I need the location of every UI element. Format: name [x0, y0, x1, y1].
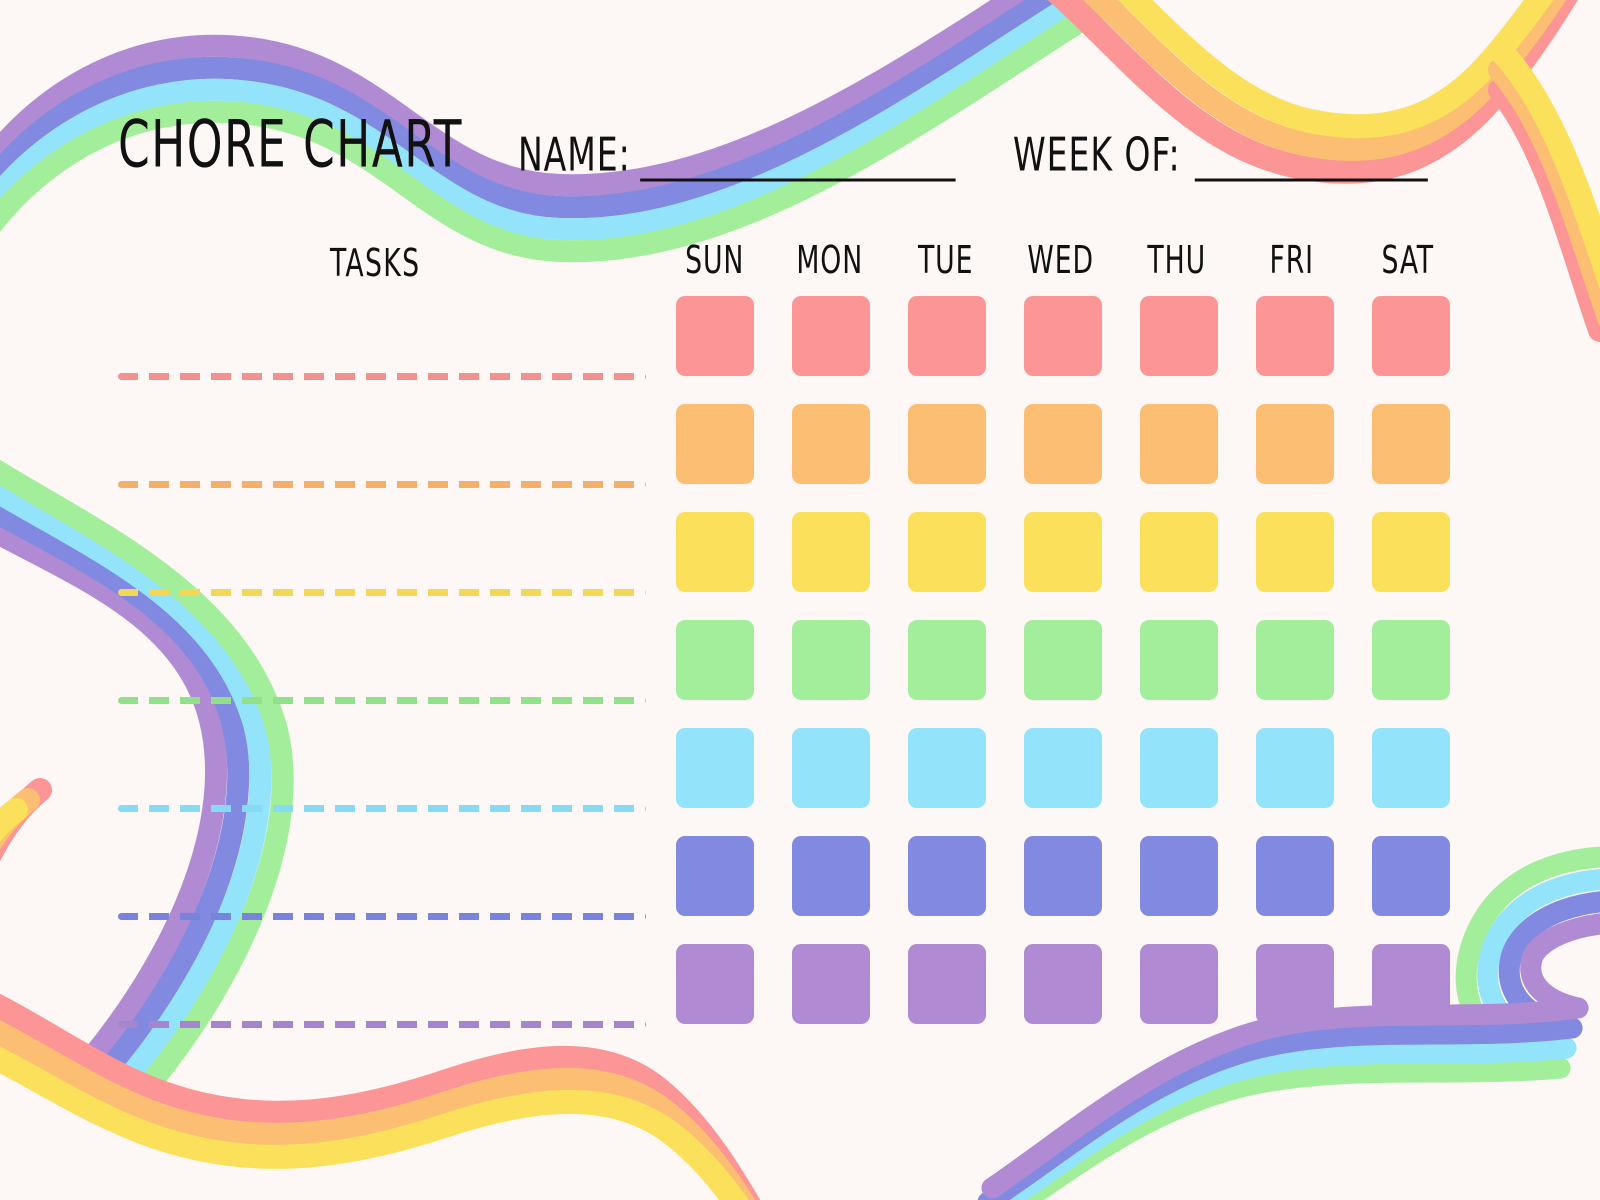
grid-row	[676, 836, 1450, 916]
chore-checkbox-cell[interactable]	[676, 728, 754, 808]
task-row	[118, 728, 646, 808]
task-write-in-line[interactable]	[118, 373, 646, 380]
chore-checkbox-cell[interactable]	[792, 296, 870, 376]
grid-row	[676, 296, 1450, 376]
chore-checkbox-cell[interactable]	[792, 728, 870, 808]
column-header-tasks: TASKS	[330, 240, 420, 285]
grid-row	[676, 728, 1450, 808]
chore-checkbox-cell[interactable]	[1256, 296, 1334, 376]
day-column-header: SAT	[1372, 237, 1442, 282]
name-field[interactable]: NAME: ___________________	[518, 136, 954, 182]
chore-chart-page: CHORE CHART NAME: ___________________ WE…	[0, 0, 1600, 1200]
task-write-in-line[interactable]	[118, 913, 646, 920]
day-column-header: THU	[1142, 237, 1212, 282]
chore-checkbox-cell[interactable]	[1140, 836, 1218, 916]
task-write-in-line[interactable]	[118, 697, 646, 704]
chore-checkbox-cell[interactable]	[1024, 296, 1102, 376]
chore-checkbox-cell[interactable]	[908, 404, 986, 484]
chore-checkbox-cell[interactable]	[908, 944, 986, 1024]
grid-row	[676, 620, 1450, 700]
chore-checkbox-cell[interactable]	[1256, 512, 1334, 592]
chore-checkbox-cell[interactable]	[1140, 296, 1218, 376]
day-column-header: SUN	[680, 237, 750, 282]
grid-row	[676, 404, 1450, 484]
chore-checkbox-cell[interactable]	[1024, 728, 1102, 808]
chore-checkbox-cell[interactable]	[908, 296, 986, 376]
day-column-header: WED	[1026, 237, 1096, 282]
chore-checkbox-cell[interactable]	[1372, 728, 1450, 808]
week-of-input-rule[interactable]: ______________	[1195, 131, 1426, 182]
chore-checkbox-cell[interactable]	[676, 404, 754, 484]
chore-checkbox-cell[interactable]	[1372, 512, 1450, 592]
task-write-in-lines	[118, 296, 646, 1024]
chore-checkbox-cell[interactable]	[1372, 944, 1450, 1024]
task-write-in-line[interactable]	[118, 589, 646, 596]
chore-checkbox-cell[interactable]	[1024, 620, 1102, 700]
chore-checkbox-cell[interactable]	[676, 620, 754, 700]
page-title: CHORE CHART	[118, 106, 463, 182]
chore-checkbox-grid	[676, 296, 1450, 1024]
task-row	[118, 620, 646, 700]
chore-checkbox-cell[interactable]	[1024, 944, 1102, 1024]
chore-checkbox-cell[interactable]	[1024, 512, 1102, 592]
day-column-header: FRI	[1257, 237, 1327, 282]
chore-checkbox-cell[interactable]	[676, 296, 754, 376]
week-of-label: WEEK OF:	[1013, 129, 1181, 182]
task-row	[118, 836, 646, 916]
chore-checkbox-cell[interactable]	[1372, 836, 1450, 916]
task-row	[118, 944, 646, 1024]
task-write-in-line[interactable]	[118, 1021, 646, 1028]
grid-row	[676, 512, 1450, 592]
chore-checkbox-cell[interactable]	[908, 836, 986, 916]
chore-checkbox-cell[interactable]	[1256, 944, 1334, 1024]
task-row	[118, 512, 646, 592]
day-column-headers: SUNMONTUEWEDTHUFRISAT	[676, 240, 1446, 279]
chore-checkbox-cell[interactable]	[1140, 944, 1218, 1024]
task-write-in-line[interactable]	[118, 481, 646, 488]
chore-checkbox-cell[interactable]	[1256, 728, 1334, 808]
chore-checkbox-cell[interactable]	[1372, 620, 1450, 700]
chore-checkbox-cell[interactable]	[1372, 404, 1450, 484]
chore-checkbox-cell[interactable]	[792, 512, 870, 592]
chore-checkbox-cell[interactable]	[908, 620, 986, 700]
chore-checkbox-cell[interactable]	[908, 728, 986, 808]
task-row	[118, 296, 646, 376]
chore-checkbox-cell[interactable]	[908, 512, 986, 592]
task-row	[118, 404, 646, 484]
chore-checkbox-cell[interactable]	[1256, 836, 1334, 916]
chore-checkbox-cell[interactable]	[676, 512, 754, 592]
chore-checkbox-cell[interactable]	[1256, 404, 1334, 484]
chart-header: CHORE CHART NAME: ___________________ WE…	[118, 118, 1478, 182]
chore-checkbox-cell[interactable]	[1140, 620, 1218, 700]
chore-checkbox-cell[interactable]	[792, 404, 870, 484]
week-of-field[interactable]: WEEK OF: ______________	[1013, 136, 1426, 182]
name-label: NAME:	[518, 129, 631, 182]
chore-checkbox-cell[interactable]	[792, 620, 870, 700]
task-write-in-line[interactable]	[118, 805, 646, 812]
chore-checkbox-cell[interactable]	[1024, 836, 1102, 916]
chore-checkbox-cell[interactable]	[792, 836, 870, 916]
chore-checkbox-cell[interactable]	[1372, 296, 1450, 376]
chore-checkbox-cell[interactable]	[1140, 728, 1218, 808]
chore-checkbox-cell[interactable]	[676, 944, 754, 1024]
chore-checkbox-cell[interactable]	[1256, 620, 1334, 700]
chore-checkbox-cell[interactable]	[1140, 512, 1218, 592]
chore-checkbox-cell[interactable]	[1024, 404, 1102, 484]
chore-checkbox-cell[interactable]	[1140, 404, 1218, 484]
chore-checkbox-cell[interactable]	[676, 836, 754, 916]
day-column-header: TUE	[911, 237, 981, 282]
chore-checkbox-cell[interactable]	[792, 944, 870, 1024]
name-input-rule[interactable]: ___________________	[640, 131, 953, 182]
day-column-header: MON	[795, 237, 865, 282]
grid-row	[676, 944, 1450, 1024]
